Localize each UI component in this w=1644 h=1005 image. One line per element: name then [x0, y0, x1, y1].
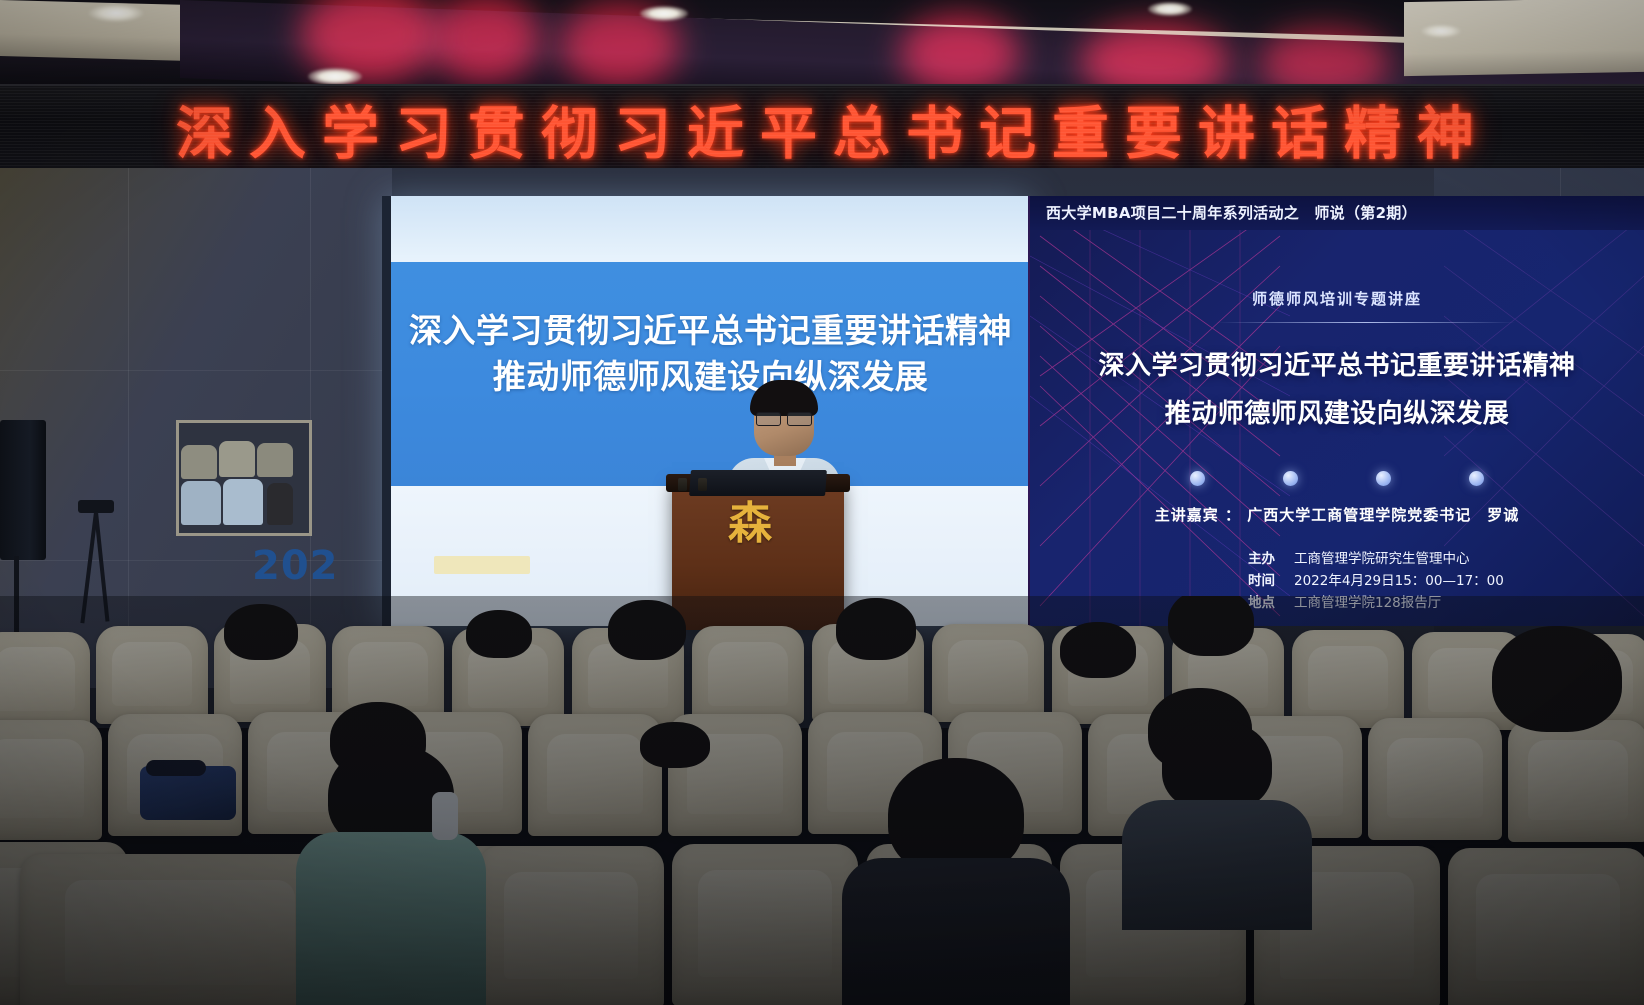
ceiling: [0, 0, 1644, 92]
window-seat: [257, 443, 293, 477]
slide-meta-row: 时间 2022年4月29日15：00—17：00: [1248, 570, 1638, 592]
screen-highlight-chip: [434, 556, 530, 574]
window-seat: [181, 481, 221, 525]
downlight-icon-3: [640, 6, 688, 21]
downlight-icon-5: [1420, 24, 1462, 38]
seat: [1292, 630, 1404, 728]
seat: [0, 632, 90, 728]
seat: [478, 846, 664, 1005]
slide-subtitle: 师德师风培训专题讲座: [1030, 288, 1644, 309]
seat: [528, 714, 662, 836]
seat: [1368, 718, 1502, 840]
window-seat: [223, 479, 263, 525]
slide-meta-key: 时间: [1248, 570, 1280, 592]
slide-title: 深入学习贯彻习近平总书记重要讲话精神 推动师德师风建设向纵深发展: [1030, 342, 1644, 438]
audience-shoulders: [1122, 800, 1312, 930]
slide-header-text: 西大学MBA项目二十周年系列活动之 师说（第2期）: [1046, 202, 1417, 223]
downlight-icon-1: [88, 4, 144, 22]
window-seat: [267, 483, 293, 525]
screen-year-text: 202: [252, 543, 339, 589]
audience-head: [1168, 596, 1254, 656]
seat: [672, 844, 858, 1005]
audience-shoulders: [296, 832, 486, 1005]
screen-top-band: [391, 196, 1030, 262]
audience-shoulders: [842, 858, 1070, 1005]
downlight-icon-4: [1148, 2, 1192, 16]
glasses-icon: [756, 412, 812, 424]
audience-head: [224, 604, 298, 660]
audience-head: [1492, 626, 1622, 732]
slide-dot: [1283, 471, 1298, 486]
audience-head: [836, 598, 916, 660]
audience-head: [640, 722, 710, 768]
wall-seam-v2: [310, 168, 311, 668]
red-glow-4: [900, 14, 1020, 92]
slide-dot: [1376, 471, 1391, 486]
presenter-hair: [750, 380, 818, 416]
water-bottle-icon: [678, 478, 687, 491]
seat: [692, 626, 804, 724]
pa-speaker-icon: [0, 420, 46, 560]
seat: [96, 626, 208, 724]
wall-seam-v1: [128, 168, 129, 668]
laptop-icon: [689, 470, 827, 496]
window-seat: [219, 441, 255, 477]
red-glow-5: [1080, 22, 1230, 92]
led-scrolling-banner: 深入学习贯彻习近平总书记重要讲话精神: [0, 84, 1644, 175]
podium-emblem: 森: [728, 498, 772, 550]
audience-seating: [0, 596, 1644, 1005]
red-glow-6: [1260, 28, 1390, 92]
downlight-icon-2: [308, 68, 362, 85]
slide-guest-line: 主讲嘉宾 ： 广西大学工商管理学院党委书记 罗诚: [1030, 504, 1644, 525]
seat: [932, 624, 1044, 722]
audience-head: [466, 610, 532, 658]
seat: [1508, 720, 1644, 842]
seat: [20, 854, 340, 1005]
slide-meta-key: 主办: [1248, 548, 1280, 570]
audience-head: [608, 600, 686, 660]
slide-meta-value: 2022年4月29日15：00—17：00: [1294, 570, 1504, 592]
slide-meta-value: 工商管理学院研究生管理中心: [1294, 548, 1470, 570]
slide-dot: [1469, 471, 1484, 486]
wall-seam-h1: [0, 370, 392, 371]
lecture-hall-photo: 深入学习贯彻习近平总书记重要讲话精神 深入学习贯彻习近平总书记重要讲话精神 推动…: [0, 0, 1644, 1005]
face-mask-icon: [432, 792, 458, 840]
screen-title-line1: 深入学习贯彻习近平总书记重要讲话精神: [391, 308, 1030, 354]
water-bottle-icon: [698, 478, 707, 491]
window-seat: [181, 445, 217, 479]
led-banner-text: 深入学习贯彻习近平总书记重要讲话精神: [176, 88, 1490, 170]
projection-booth-window: [176, 420, 312, 536]
audience-head: [1060, 622, 1136, 678]
slide-title-line2: 推动师德师风建设向纵深发展: [1030, 390, 1644, 438]
screen-left-frame: [382, 196, 391, 626]
slide-dot-row: [1030, 471, 1644, 486]
slide-dot: [1190, 471, 1205, 486]
seat: [1448, 848, 1644, 1005]
audience-head: [1162, 720, 1272, 812]
screen-title: 深入学习贯彻习近平总书记重要讲话精神 推动师德师风建设向纵深发展: [391, 308, 1030, 400]
slide-title-line1: 深入学习贯彻习近平总书记重要讲话精神: [1030, 342, 1644, 390]
slide-meta-row: 主办 工商管理学院研究生管理中心: [1248, 548, 1638, 570]
seat: [0, 720, 102, 840]
slide-panel: 西大学MBA项目二十周年系列活动之 师说（第2期） 师德师风培训专题讲座 深入学…: [1030, 196, 1644, 626]
screen-title-line2: 推动师德师风建设向纵深发展: [391, 354, 1030, 400]
backpack-strap: [146, 760, 206, 776]
ceiling-panel-right: [1404, 0, 1644, 76]
slide-divider: [1216, 322, 1516, 323]
